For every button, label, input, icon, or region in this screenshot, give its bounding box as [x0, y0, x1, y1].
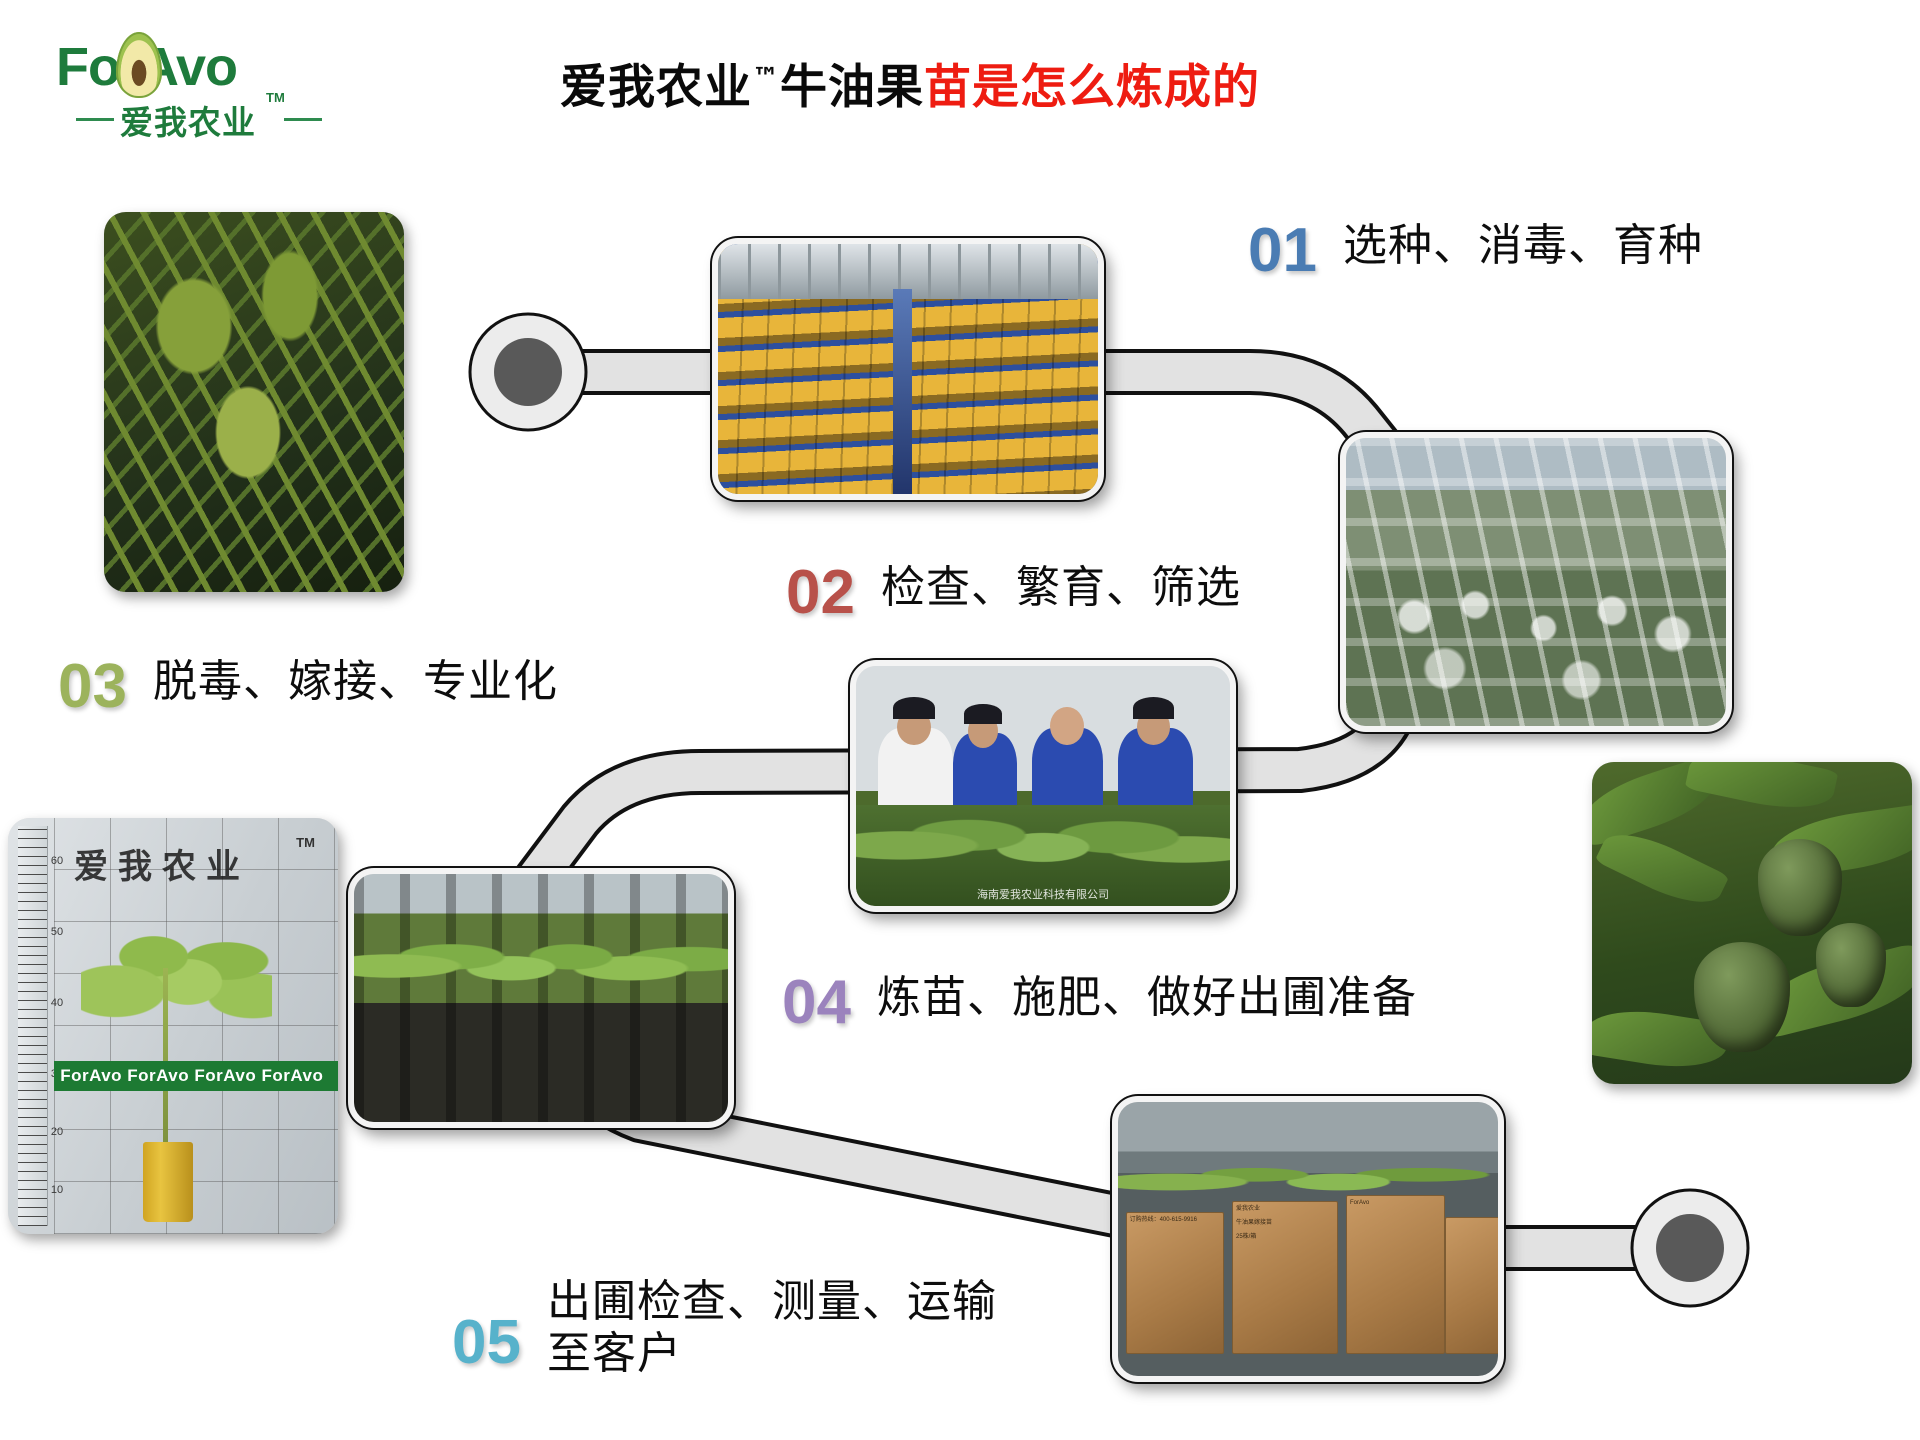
photo-watermark-text: 爱我农业	[74, 839, 250, 888]
foravo-sticker-band: ForAvo ForAvo ForAvo ForAvo	[54, 1061, 338, 1091]
packed-shipping-cartons-photo: 订购热线：400-615-9916 爱我农业 牛油果嫁接苗 25株/箱 ForA…	[1112, 1096, 1504, 1382]
carton-label-text: 订购热线：400-615-9916	[1127, 1213, 1224, 1227]
yellow-pot	[143, 1142, 193, 1221]
avocado-fruit-on-tree-photo	[1592, 762, 1912, 1084]
potted-seedling-rows-photo	[348, 868, 734, 1128]
flow-start-dot	[494, 338, 562, 406]
step-04-number: 04	[782, 972, 851, 1034]
step-01-text: 选种、消毒、育种	[1343, 220, 1703, 272]
step-04-label: 04 炼苗、施肥、做好出圃准备	[782, 972, 1417, 1034]
step-02-label: 02 检查、繁育、筛选	[786, 562, 1241, 624]
step-03-text: 脱毒、嫁接、专业化	[153, 656, 558, 708]
step-05-label: 05 出圃检查、测量、运输 至客户	[452, 1276, 997, 1380]
avocado-flower-branch-photo	[104, 212, 404, 592]
photo-watermark: 海南爱我农业科技有限公司	[977, 886, 1109, 902]
step-05-text-line2: 至客户	[547, 1328, 997, 1380]
photo-watermark-tm: TM	[296, 835, 315, 850]
carton-brand-text: 爱我农业	[1233, 1202, 1337, 1216]
step-05-text: 出圃检查、测量、运输 至客户	[547, 1276, 997, 1380]
ruler-bar	[18, 826, 48, 1225]
greenhouse-grafting-bags-photo	[1340, 432, 1732, 732]
staff-inspecting-seedlings-photo: 海南爱我农业科技有限公司	[850, 660, 1236, 912]
ruler-tick-60: 60	[51, 855, 63, 867]
ruler-tick-50: 50	[51, 926, 63, 938]
step-02-text: 检查、繁育、筛选	[881, 562, 1241, 614]
carton-qty-text: 25株/箱	[1233, 1230, 1337, 1244]
carton-side-text: ForAvo	[1347, 1196, 1444, 1210]
step-01-number: 01	[1248, 220, 1317, 282]
carton-product-text: 牛油果嫁接苗	[1233, 1216, 1337, 1230]
ruler-tick-40: 40	[51, 997, 63, 1009]
step-01-label: 01 选种、消毒、育种	[1248, 220, 1703, 282]
step-03-number: 03	[58, 656, 127, 718]
step-04-text: 炼苗、施肥、做好出圃准备	[877, 972, 1417, 1024]
step-02-number: 02	[786, 562, 855, 624]
ruler-tick-20: 20	[51, 1126, 63, 1138]
flow-end-dot	[1656, 1214, 1724, 1282]
measured-seedling-photo: 爱我农业 TM 60 50 40 30 20 10 ForAvo ForAvo …	[8, 818, 338, 1234]
infographic-canvas: ForAvo 爱我农业 TM 爱我农业™牛油果苗是怎么炼成的	[0, 0, 1920, 1440]
step-03-label: 03 脱毒、嫁接、专业化	[58, 656, 558, 718]
step-05-number: 05	[452, 1312, 521, 1374]
step-05-text-line1: 出圃检查、测量、运输	[547, 1276, 997, 1328]
seed-germination-trays-photo	[712, 238, 1104, 500]
ruler-tick-10: 10	[51, 1184, 63, 1196]
